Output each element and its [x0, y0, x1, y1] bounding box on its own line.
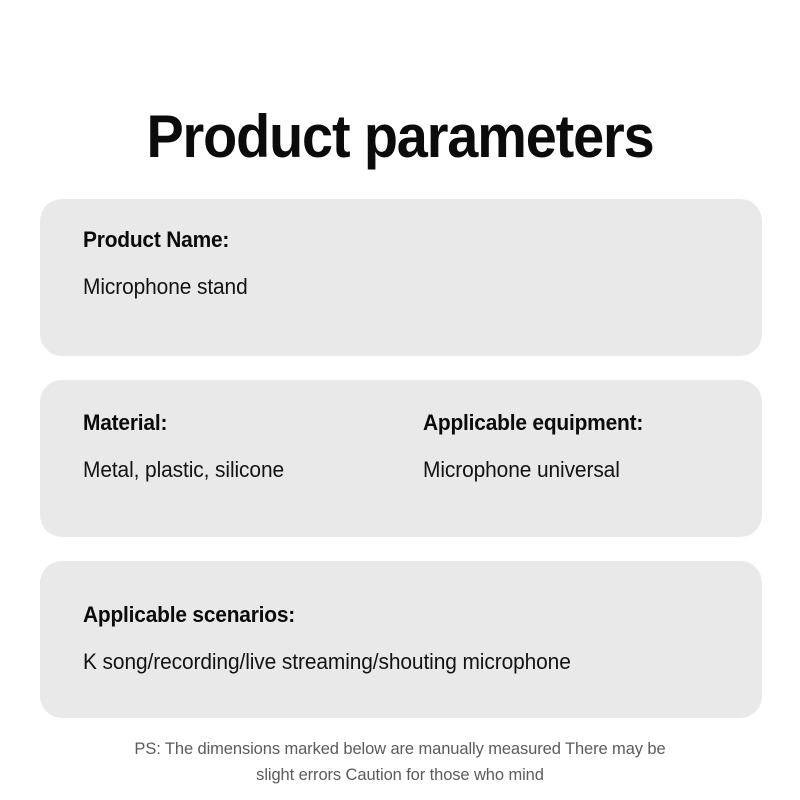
spec-card-content: Material: Metal, plastic, silicone Appli…	[83, 409, 732, 484]
footer-disclaimer: PS: The dimensions marked below are manu…	[100, 736, 700, 788]
spec-label-material: Material:	[83, 409, 406, 437]
footer-disclaimer-line-1: PS: The dimensions marked below are manu…	[100, 736, 700, 762]
spec-card-content: Product Name: Microphone stand	[83, 226, 732, 301]
page-title: Product parameters	[28, 102, 772, 172]
spec-label-product-name: Product Name:	[83, 226, 700, 254]
spec-field-applicable-equipment: Applicable equipment: Microphone univers…	[423, 409, 743, 484]
spec-label-applicable-equipment: Applicable equipment:	[423, 409, 727, 437]
spec-card-product-name: Product Name: Microphone stand	[40, 199, 762, 356]
spec-value-product-name: Microphone stand	[83, 273, 700, 301]
spec-field-material: Material: Metal, plastic, silicone	[83, 409, 423, 484]
spec-field-product-name: Product Name: Microphone stand	[83, 226, 732, 301]
spec-card-material-equipment: Material: Metal, plastic, silicone Appli…	[40, 380, 762, 537]
spec-value-material: Metal, plastic, silicone	[83, 456, 406, 484]
spec-label-applicable-scenarios: Applicable scenarios:	[83, 601, 700, 629]
product-parameters-page: Product parameters Product Name: Microph…	[0, 0, 800, 800]
spec-value-applicable-scenarios: K song/recording/live streaming/shouting…	[83, 648, 700, 676]
spec-card-applicable-scenarios: Applicable scenarios: K song/recording/l…	[40, 561, 762, 718]
spec-value-applicable-equipment: Microphone universal	[423, 456, 727, 484]
footer-disclaimer-line-2: slight errors Caution for those who mind	[100, 762, 700, 788]
spec-card-content: Applicable scenarios: K song/recording/l…	[83, 601, 732, 676]
spec-field-applicable-scenarios: Applicable scenarios: K song/recording/l…	[83, 601, 732, 676]
